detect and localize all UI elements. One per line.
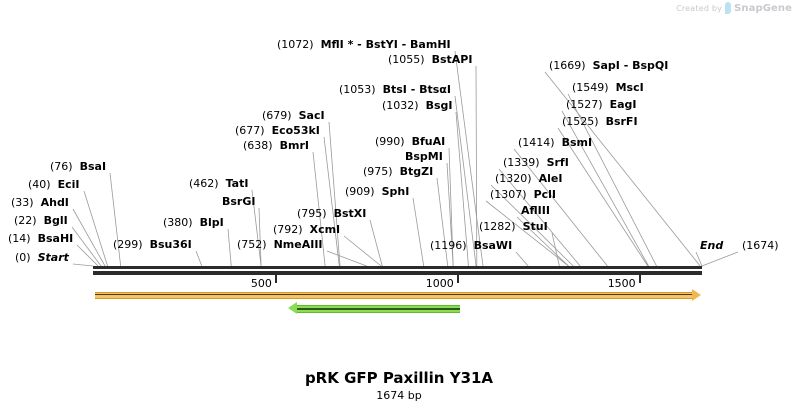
enzyme-site-position: (380) bbox=[163, 216, 193, 229]
plasmid-map: Created by SnapGene (0) Start(14) BsaHI(… bbox=[0, 0, 798, 408]
enzyme-site-position: (462) bbox=[189, 177, 219, 190]
enzyme-site-position: (33) bbox=[11, 196, 34, 209]
enzyme-site-position: (795) bbox=[297, 207, 327, 220]
enzyme-site-position: (14) bbox=[8, 232, 31, 245]
enzyme-site-label[interactable]: (1669) SapI - BspQI bbox=[549, 60, 668, 71]
enzyme-site-position: (1669) bbox=[549, 59, 586, 72]
enzyme-site-name: BsaWI bbox=[474, 239, 513, 252]
enzyme-site-name: BlpI bbox=[200, 216, 224, 229]
enzyme-site-position: (76) bbox=[50, 160, 73, 173]
orange-feature-arrow-arrowhead bbox=[692, 289, 701, 301]
green-feature-arrow-arrowhead bbox=[288, 302, 297, 314]
enzyme-site-name: BmrI bbox=[280, 139, 309, 152]
enzyme-site-label[interactable]: (792) XcmI bbox=[273, 224, 340, 235]
page-title: pRK GFP Paxillin Y31A bbox=[0, 369, 798, 387]
enzyme-site-position: (0) bbox=[15, 251, 31, 264]
enzyme-site-label[interactable]: End bbox=[700, 240, 723, 251]
enzyme-site-label[interactable]: (380) BlpI bbox=[163, 217, 224, 228]
enzyme-site-label[interactable]: (638) BmrI bbox=[243, 140, 309, 151]
enzyme-site-label[interactable]: (1055) BstAPI bbox=[388, 54, 472, 65]
enzyme-site-position: (1053) bbox=[339, 83, 376, 96]
enzyme-site-position: (1674) bbox=[742, 239, 779, 252]
enzyme-site-label[interactable]: AflIII bbox=[521, 205, 550, 216]
enzyme-site-label[interactable]: (299) Bsu36I bbox=[113, 239, 192, 250]
enzyme-site-name: BstAPI bbox=[432, 53, 473, 66]
enzyme-site-name: StuI bbox=[523, 220, 548, 233]
enzyme-site-name: BtgZI bbox=[400, 165, 434, 178]
enzyme-site-position: (1032) bbox=[382, 99, 419, 112]
enzyme-site-name: EagI bbox=[610, 98, 637, 111]
enzyme-site-name: SacI bbox=[299, 109, 325, 122]
enzyme-site-label[interactable]: (1525) BsrFI bbox=[562, 116, 638, 127]
enzyme-site-position: (975) bbox=[363, 165, 393, 178]
enzyme-site-name: XcmI bbox=[310, 223, 341, 236]
enzyme-site-name: SapI - BspQI bbox=[593, 59, 669, 72]
enzyme-site-name: SrfI bbox=[547, 156, 569, 169]
snapgene-watermark: Created by SnapGene bbox=[676, 2, 792, 14]
enzyme-site-position: (909) bbox=[345, 185, 375, 198]
enzyme-site-position: (1307) bbox=[490, 188, 527, 201]
enzyme-site-position: (1527) bbox=[566, 98, 603, 111]
enzyme-site-label[interactable]: BspMI bbox=[405, 151, 443, 162]
enzyme-site-label[interactable]: (76) BsaI bbox=[50, 161, 106, 172]
enzyme-site-name: BsgI bbox=[426, 99, 453, 112]
enzyme-site-label[interactable]: (1320) AleI bbox=[495, 173, 562, 184]
enzyme-site-label[interactable]: (22) BglI bbox=[14, 215, 68, 226]
enzyme-site-name: AhdI bbox=[41, 196, 69, 209]
enzyme-site-label[interactable]: (975) BtgZI bbox=[363, 166, 433, 177]
enzyme-site-label[interactable]: (1053) BtsI - BtsαI bbox=[339, 84, 451, 95]
watermark-prefix: Created by bbox=[676, 4, 722, 13]
plasmid-length: 1674 bp bbox=[0, 389, 798, 402]
ruler-tick-label: 1500 bbox=[608, 277, 636, 290]
enzyme-site-name: BsaI bbox=[80, 160, 106, 173]
enzyme-site-label[interactable]: (1549) MscI bbox=[572, 82, 644, 93]
enzyme-site-label[interactable]: (1282) StuI bbox=[479, 221, 548, 232]
enzyme-site-name: PclI bbox=[534, 188, 556, 201]
enzyme-site-name: EciI bbox=[58, 178, 80, 191]
enzyme-site-label[interactable]: (752) NmeAIII bbox=[237, 239, 323, 250]
enzyme-site-position: (1549) bbox=[572, 81, 609, 94]
backbone-line-bottom bbox=[93, 271, 702, 275]
enzyme-site-position: (677) bbox=[235, 124, 265, 137]
enzyme-site-label[interactable]: (1674) bbox=[742, 240, 779, 251]
ruler-tick bbox=[457, 275, 459, 283]
enzyme-site-label[interactable]: BsrGI bbox=[222, 196, 255, 207]
enzyme-site-label[interactable]: (1339) SrfI bbox=[503, 157, 569, 168]
enzyme-site-position: (752) bbox=[237, 238, 267, 251]
enzyme-site-name: AleI bbox=[539, 172, 563, 185]
enzyme-site-label[interactable]: (909) SphI bbox=[345, 186, 409, 197]
enzyme-site-name: BglI bbox=[44, 214, 68, 227]
enzyme-site-position: (1196) bbox=[430, 239, 467, 252]
enzyme-site-name: BspMI bbox=[405, 150, 443, 163]
enzyme-site-position: (1339) bbox=[503, 156, 540, 169]
enzyme-site-label[interactable]: (0) Start bbox=[15, 252, 69, 263]
enzyme-site-position: (1414) bbox=[518, 136, 555, 149]
enzyme-site-name: BsaHI bbox=[38, 232, 74, 245]
enzyme-site-position: (792) bbox=[273, 223, 303, 236]
enzyme-site-name: BtsI - BtsαI bbox=[383, 83, 451, 96]
enzyme-site-label[interactable]: (1196) BsaWI bbox=[430, 240, 512, 251]
enzyme-site-name: Eco53kI bbox=[272, 124, 320, 137]
enzyme-site-name: SphI bbox=[382, 185, 410, 198]
enzyme-site-position: (1320) bbox=[495, 172, 532, 185]
enzyme-site-label[interactable]: (1307) PclI bbox=[490, 189, 556, 200]
enzyme-site-name: MscI bbox=[616, 81, 644, 94]
enzyme-site-name: Bsu36I bbox=[150, 238, 192, 251]
enzyme-site-name: BstXI bbox=[334, 207, 367, 220]
enzyme-site-name: NmeAIII bbox=[274, 238, 323, 251]
enzyme-site-label[interactable]: (1527) EagI bbox=[566, 99, 636, 110]
enzyme-site-label[interactable]: (33) AhdI bbox=[11, 197, 69, 208]
enzyme-site-label[interactable]: (1414) BsmI bbox=[518, 137, 592, 148]
green-feature-arrow-core bbox=[297, 308, 461, 310]
enzyme-site-label[interactable]: (677) Eco53kI bbox=[235, 125, 320, 136]
enzyme-site-name: BfuAI bbox=[412, 135, 446, 148]
enzyme-site-name: Start bbox=[38, 251, 69, 264]
enzyme-site-name: BsrGI bbox=[222, 195, 255, 208]
enzyme-site-name: MflI * - BstYI - BamHI bbox=[321, 38, 451, 51]
enzyme-site-label[interactable]: (1072) MflI * - BstYI - BamHI bbox=[277, 39, 451, 50]
enzyme-site-position: (990) bbox=[375, 135, 405, 148]
backbone-line-top bbox=[93, 266, 702, 269]
enzyme-site-label[interactable]: (40) EciI bbox=[28, 179, 80, 190]
enzyme-site-position: (1055) bbox=[388, 53, 425, 66]
enzyme-site-name: AflIII bbox=[521, 204, 550, 217]
enzyme-site-position: (638) bbox=[243, 139, 273, 152]
enzyme-site-label[interactable]: (679) SacI bbox=[262, 110, 325, 121]
enzyme-site-label[interactable]: (795) BstXI bbox=[297, 208, 366, 219]
snapgene-logo-icon bbox=[725, 2, 731, 14]
enzyme-site-name: BsrFI bbox=[606, 115, 638, 128]
ruler-tick bbox=[639, 275, 641, 283]
ruler-tick-label: 1000 bbox=[426, 277, 454, 290]
enzyme-site-name: End bbox=[700, 239, 723, 252]
enzyme-site-position: (1282) bbox=[479, 220, 516, 233]
orange-feature-arrow-core bbox=[95, 294, 692, 295]
enzyme-site-position: (679) bbox=[262, 109, 292, 122]
enzyme-site-name: BsmI bbox=[562, 136, 593, 149]
enzyme-site-label[interactable]: (14) BsaHI bbox=[8, 233, 73, 244]
enzyme-site-position: (299) bbox=[113, 238, 143, 251]
enzyme-site-label[interactable]: (990) BfuAI bbox=[375, 136, 445, 147]
enzyme-site-label[interactable]: (1032) BsgI bbox=[382, 100, 452, 111]
ruler-tick-label: 500 bbox=[251, 277, 272, 290]
ruler-tick bbox=[275, 275, 277, 283]
enzyme-site-position: (22) bbox=[14, 214, 37, 227]
enzyme-site-label[interactable]: (462) TatI bbox=[189, 178, 248, 189]
enzyme-site-position: (1525) bbox=[562, 115, 599, 128]
enzyme-site-name: TatI bbox=[226, 177, 249, 190]
enzyme-site-position: (40) bbox=[28, 178, 51, 191]
enzyme-site-position: (1072) bbox=[277, 38, 314, 51]
watermark-brand: SnapGene bbox=[734, 3, 792, 14]
